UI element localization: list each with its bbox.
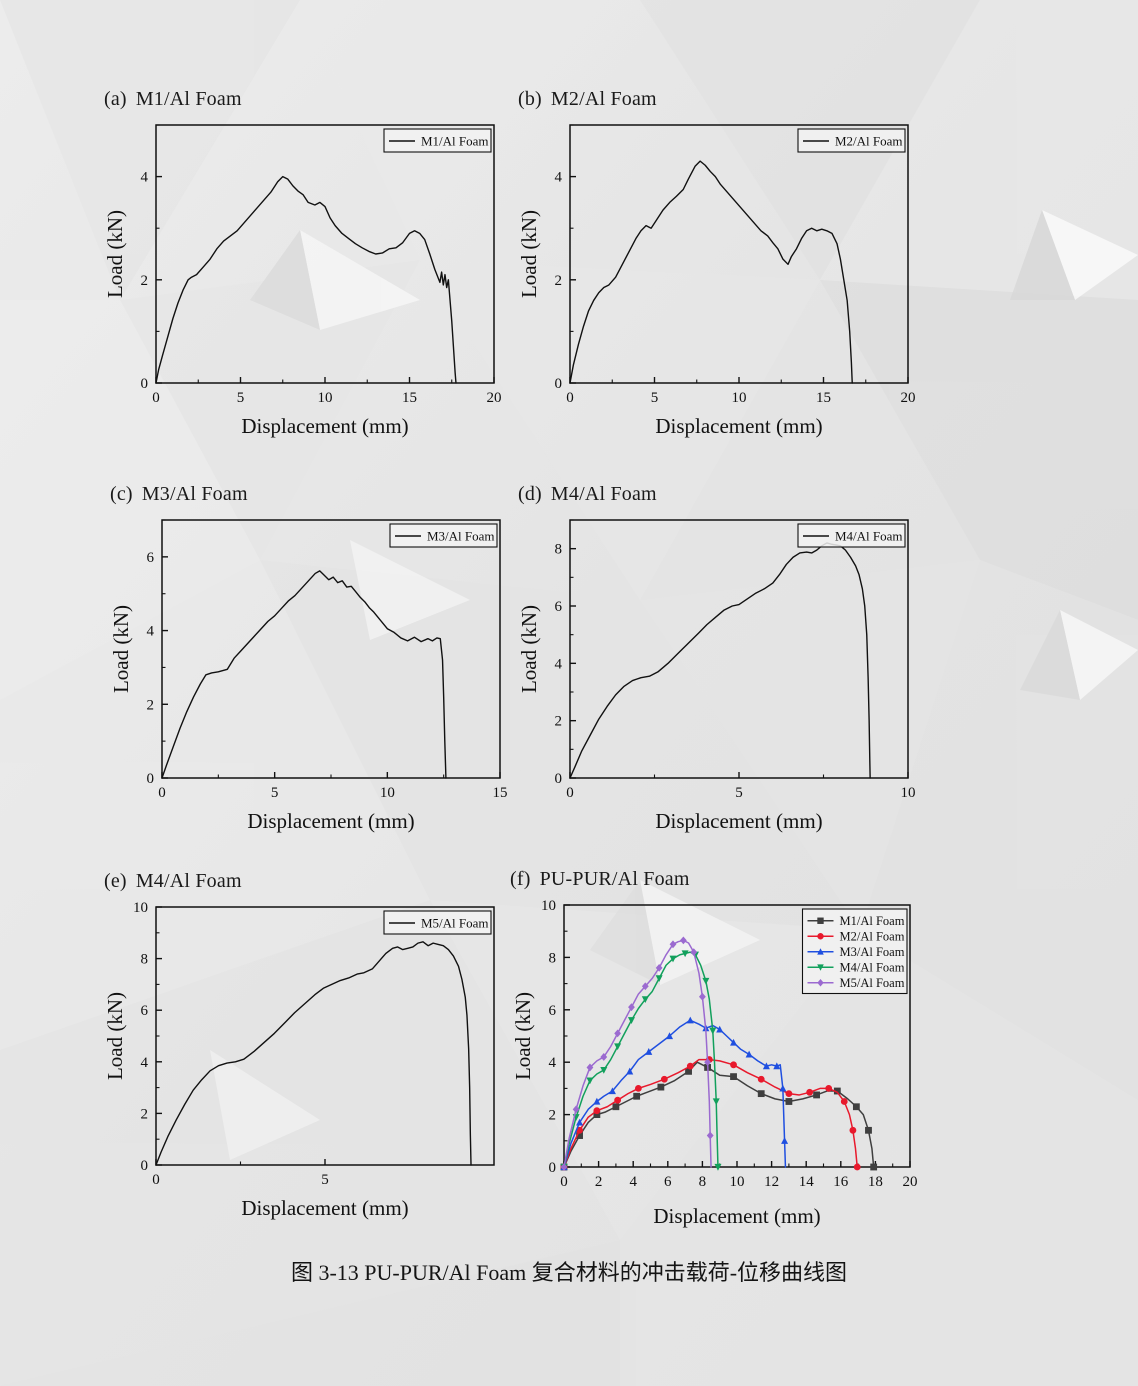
panel-d-tag: (d) [518,483,542,505]
svg-text:6: 6 [141,1003,149,1019]
panel-c-tag: (c) [110,483,133,505]
svg-text:8: 8 [141,952,149,968]
chart-d: 051002468Displacement (mm)Load (kN)M4/Al… [518,506,918,836]
panel-e-plot: 050246810Displacement (mm)Load (kN)M5/Al… [104,893,504,1223]
svg-text:6: 6 [555,599,563,615]
svg-text:Load (kN): Load (kN) [518,605,541,693]
svg-text:M3/Al Foam: M3/Al Foam [427,528,495,543]
panel-b-label: M2/Al Foam [551,88,657,110]
svg-text:4: 4 [629,1174,637,1190]
svg-text:Load (kN): Load (kN) [518,210,541,298]
chart-f: 024681012141618200246810Displacement (mm… [510,891,920,1231]
svg-text:4: 4 [549,1055,557,1071]
svg-text:15: 15 [493,785,508,801]
svg-text:20: 20 [487,390,502,406]
svg-text:5: 5 [651,390,659,406]
panel-b-title: (b)M2/Al Foam [518,88,918,111]
svg-text:15: 15 [402,390,417,406]
svg-text:Displacement (mm): Displacement (mm) [655,414,822,438]
panel-a-title: (a)M1/Al Foam [104,88,504,111]
svg-text:10: 10 [730,1174,745,1190]
svg-text:Displacement (mm): Displacement (mm) [241,1196,408,1220]
panel-f-tag: (f) [510,868,531,890]
svg-text:18: 18 [868,1174,883,1190]
panel-a-tag: (a) [104,88,127,110]
panel-e: (e)M4/Al Foam 050246810Displacement (mm)… [104,870,504,1223]
panel-b: (b)M2/Al Foam 05101520024Displacement (m… [518,88,918,441]
chart-a: 05101520024Displacement (mm)Load (kN)M1/… [104,111,504,441]
svg-text:2: 2 [141,273,149,289]
svg-text:0: 0 [566,785,574,801]
panel-b-plot: 05101520024Displacement (mm)Load (kN)M2/… [518,111,918,441]
svg-text:20: 20 [901,390,916,406]
svg-text:10: 10 [133,900,148,916]
svg-text:0: 0 [158,785,166,801]
svg-text:10: 10 [901,785,916,801]
svg-text:2: 2 [549,1108,557,1124]
svg-text:4: 4 [147,624,155,640]
panel-f: (f)PU-PUR/Al Foam 0246810121416182002468… [510,868,920,1231]
chart-b: 05101520024Displacement (mm)Load (kN)M2/… [518,111,918,441]
panel-a-plot: 05101520024Displacement (mm)Load (kN)M1/… [104,111,504,441]
svg-text:10: 10 [318,390,333,406]
figure-caption: 图 3-13 PU-PUR/Al Foam 复合材料的冲击载荷-位移曲线图 [0,1255,1138,1287]
panel-b-tag: (b) [518,88,542,110]
panel-c-title: (c)M3/Al Foam [110,483,510,506]
panel-c: (c)M3/Al Foam 0510150246Displacement (mm… [110,483,510,836]
svg-text:2: 2 [555,273,563,289]
panel-a: (a)M1/Al Foam 05101520024Displacement (m… [104,88,504,441]
svg-text:0: 0 [141,376,149,392]
svg-text:0: 0 [152,390,160,406]
svg-text:Load (kN): Load (kN) [104,210,127,298]
svg-text:M3/Al Foam: M3/Al Foam [840,945,905,959]
svg-text:14: 14 [799,1174,815,1190]
svg-text:0: 0 [549,1160,557,1176]
svg-text:4: 4 [555,170,563,186]
svg-text:M1/Al Foam: M1/Al Foam [840,914,905,928]
svg-text:0: 0 [147,771,155,787]
svg-text:15: 15 [816,390,831,406]
svg-text:6: 6 [549,1003,557,1019]
panel-d: (d)M4/Al Foam 051002468Displacement (mm)… [518,483,918,836]
svg-text:4: 4 [141,1055,149,1071]
chart-e: 050246810Displacement (mm)Load (kN)M5/Al… [104,893,504,1223]
panel-c-plot: 0510150246Displacement (mm)Load (kN)M3/A… [110,506,510,836]
svg-text:10: 10 [380,785,395,801]
svg-text:6: 6 [147,550,155,566]
svg-text:20: 20 [903,1174,918,1190]
svg-text:0: 0 [555,376,563,392]
svg-text:Displacement (mm): Displacement (mm) [655,809,822,833]
panel-e-title: (e)M4/Al Foam [104,870,504,893]
svg-text:0: 0 [152,1172,160,1188]
svg-text:Load (kN): Load (kN) [104,992,127,1080]
svg-text:5: 5 [271,785,279,801]
svg-text:0: 0 [141,1158,149,1174]
svg-text:0: 0 [566,390,574,406]
svg-text:2: 2 [555,714,563,730]
svg-text:M4/Al Foam: M4/Al Foam [835,528,903,543]
svg-text:Displacement (mm): Displacement (mm) [247,809,414,833]
svg-text:5: 5 [321,1172,329,1188]
panel-d-label: M4/Al Foam [551,483,657,505]
svg-text:M5/Al Foam: M5/Al Foam [840,976,905,990]
panel-a-label: M1/Al Foam [136,88,242,110]
svg-text:M5/Al Foam: M5/Al Foam [421,915,489,930]
svg-text:Displacement (mm): Displacement (mm) [241,414,408,438]
svg-text:Load (kN): Load (kN) [110,605,133,693]
panel-f-label: PU-PUR/Al Foam [540,868,690,890]
svg-text:M4/Al Foam: M4/Al Foam [840,961,905,975]
svg-text:12: 12 [764,1174,779,1190]
svg-text:2: 2 [595,1174,603,1190]
svg-text:8: 8 [555,542,563,558]
svg-text:16: 16 [833,1174,849,1190]
svg-text:M2/Al Foam: M2/Al Foam [835,133,903,148]
panel-c-label: M3/Al Foam [142,483,248,505]
svg-text:5: 5 [237,390,245,406]
svg-text:8: 8 [699,1174,707,1190]
svg-text:0: 0 [560,1174,568,1190]
svg-text:6: 6 [664,1174,672,1190]
svg-text:Displacement (mm): Displacement (mm) [653,1204,820,1228]
svg-text:8: 8 [549,950,557,966]
svg-text:2: 2 [147,697,155,713]
chart-c: 0510150246Displacement (mm)Load (kN)M3/A… [110,506,510,836]
svg-text:4: 4 [555,656,563,672]
panel-e-tag: (e) [104,870,127,892]
svg-text:M1/Al Foam: M1/Al Foam [421,133,489,148]
panel-d-title: (d)M4/Al Foam [518,483,918,506]
svg-text:10: 10 [541,898,556,914]
panel-d-plot: 051002468Displacement (mm)Load (kN)M4/Al… [518,506,918,836]
svg-text:5: 5 [735,785,743,801]
svg-text:M2/Al Foam: M2/Al Foam [840,930,905,944]
panel-f-title: (f)PU-PUR/Al Foam [510,868,920,891]
svg-text:Load (kN): Load (kN) [511,992,535,1080]
svg-text:10: 10 [732,390,747,406]
svg-text:0: 0 [555,771,563,787]
svg-text:4: 4 [141,170,149,186]
svg-text:2: 2 [141,1106,149,1122]
panel-f-plot: 024681012141618200246810Displacement (mm… [510,891,920,1231]
panel-e-label: M4/Al Foam [136,870,242,892]
